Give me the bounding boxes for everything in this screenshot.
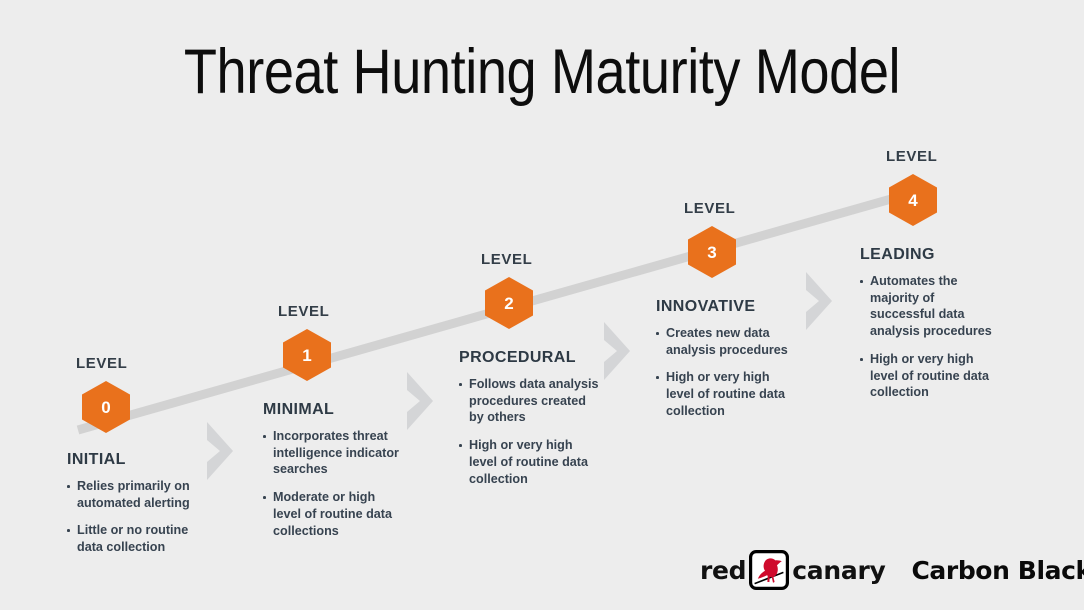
level-name-3: INNOVATIVE: [656, 298, 796, 316]
level-label-0: LEVEL: [76, 355, 127, 372]
red-canary-logo: red canary: [700, 550, 885, 590]
bullet-item: High or very high level of routine data …: [656, 369, 796, 419]
bullet-item: Follows data analysis procedures created…: [459, 376, 599, 426]
red-canary-bird-icon: [749, 550, 789, 590]
carbon-black-logo: Carbon Black.: [911, 556, 1084, 585]
chevron-arrow-icon-3: [802, 268, 838, 334]
level-number-4: 4: [908, 192, 917, 209]
level-name-1: MINIMAL: [263, 401, 403, 419]
level-body-1: MINIMAL Incorporates threat intelligence…: [263, 401, 403, 539]
chevron-arrow-icon-1: [403, 368, 439, 434]
level-label-3: LEVEL: [684, 200, 735, 217]
level-body-3: INNOVATIVE Creates new data analysis pro…: [656, 298, 796, 420]
level-name-4: LEADING: [860, 246, 992, 264]
bullet-item: Moderate or high level of routine data c…: [263, 489, 403, 539]
bullet-item: Relies primarily on automated alerting: [67, 478, 212, 511]
chevron-arrow-icon-2: [600, 318, 636, 384]
level-bullets-3: Creates new data analysis procedures Hig…: [656, 325, 796, 420]
bullet-item: Creates new data analysis procedures: [656, 325, 796, 358]
level-bullets-4: Automates the majority of successful dat…: [860, 273, 992, 401]
level-name-0: INITIAL: [67, 451, 212, 469]
level-bullets-1: Incorporates threat intelligence indicat…: [263, 428, 403, 539]
bullet-item: Automates the majority of successful dat…: [860, 273, 992, 340]
level-bullets-2: Follows data analysis procedures created…: [459, 376, 599, 487]
bullet-item: High or very high level of routine data …: [860, 351, 992, 401]
level-body-2: PROCEDURAL Follows data analysis procedu…: [459, 349, 599, 487]
level-body-4: LEADING Automates the majority of succes…: [860, 246, 992, 401]
level-label-4: LEVEL: [886, 148, 937, 165]
level-number-1: 1: [302, 347, 311, 364]
level-label-1: LEVEL: [278, 303, 329, 320]
level-number-3: 3: [707, 244, 716, 261]
level-body-0: INITIAL Relies primarily on automated al…: [67, 451, 212, 556]
red-canary-word-left: red: [700, 556, 746, 585]
bullet-item: Incorporates threat intelligence indicat…: [263, 428, 403, 478]
level-number-0: 0: [101, 399, 110, 416]
bullet-item: Little or no routine data collection: [67, 522, 212, 555]
red-canary-word-right: canary: [792, 556, 885, 585]
level-label-2: LEVEL: [481, 251, 532, 268]
level-number-2: 2: [504, 295, 513, 312]
slide-canvas: Threat Hunting Maturity Model LEVEL 0 IN…: [0, 0, 1084, 610]
logo-bar: red canary Carbon Black.: [700, 550, 1084, 590]
level-bullets-0: Relies primarily on automated alerting L…: [67, 478, 212, 556]
bullet-item: High or very high level of routine data …: [459, 437, 599, 487]
level-name-2: PROCEDURAL: [459, 349, 599, 367]
